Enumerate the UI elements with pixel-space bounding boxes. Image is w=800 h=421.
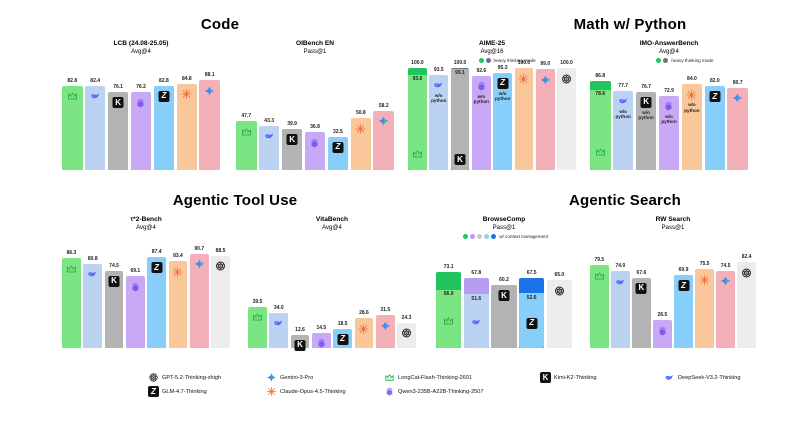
benchmark-name: IMO-AnswerBench: [590, 40, 748, 48]
bar-value-label: 18.5: [338, 321, 348, 327]
bar-gpt[interactable]: 82.4: [737, 262, 756, 348]
bar-slot: 69.1: [126, 244, 145, 348]
plot-area: 56.073.151.667.860.2K52.667.5Z65.0: [436, 244, 572, 348]
kimi-k-icon: K: [108, 275, 121, 288]
legend-item-label: GLM-4.7-Thinking: [162, 389, 207, 395]
bar-value-label: 82.0: [710, 78, 720, 84]
claude-sunburst-icon: [357, 322, 370, 335]
bar-kimi[interactable]: 74.5K: [105, 271, 124, 348]
openai-icon: [214, 260, 227, 273]
qwen-icon: [315, 337, 328, 350]
bar-value-label: 95.3: [498, 65, 508, 71]
gemini-spark-icon: [731, 92, 744, 105]
claude-sunburst-icon: [354, 122, 367, 135]
bar-slot: 36.8: [305, 68, 326, 170]
chart-group-lcb: LCB (24.08-25.05)Avg@482.882.476.1K76.28…: [62, 40, 220, 170]
bar-slot: 52.667.5Z: [519, 244, 544, 348]
bar-value-label: 84.0: [687, 76, 697, 82]
benchmark-metric: Avg@4: [62, 224, 230, 232]
bar-value-label: 65.0: [554, 272, 564, 278]
bar-annotation: w/opython: [431, 93, 446, 104]
bar-kimi[interactable]: 12.6K: [291, 335, 310, 348]
bar-deepseek[interactable]: 74.0: [611, 271, 630, 348]
bar-slot: 18.5Z: [333, 244, 352, 348]
bar-value-label: 80.7: [733, 80, 743, 86]
bar-slot: 82.8: [62, 68, 83, 170]
gemini-spark-icon: [193, 258, 206, 271]
bar-value-label: 88.5: [216, 248, 226, 254]
bar-gpt[interactable]: 100.0: [557, 68, 576, 170]
qwen-icon: [384, 386, 395, 397]
bar-value-label: 79.5: [594, 257, 604, 263]
legend-dot-grey: [663, 58, 668, 63]
bar-glm[interactable]: 82.0Z: [705, 86, 726, 170]
legend-item-label: GPT-5.2-Thinking-xhigh: [162, 375, 221, 381]
bar-glm[interactable]: 69.9Z: [674, 275, 693, 348]
kimi-k-icon: K: [454, 153, 467, 166]
bar-glm[interactable]: 87.4Z: [147, 257, 166, 348]
deepseek-whale-icon: [614, 275, 627, 288]
chart-group-tau2bench: τ*2-BenchAvg@486.380.874.5K69.187.4Z83.4…: [62, 216, 230, 348]
longcat-icon: [240, 125, 253, 138]
bar-value-label: 74.0: [615, 263, 625, 269]
chart-group-imo: IMO-AnswerBenchAvg@4heavy thinking mode7…: [590, 40, 748, 170]
kimi-k-glyph: K: [113, 97, 124, 108]
glm-z-icon: Z: [677, 279, 690, 292]
bar-deepseek[interactable]: 43.3: [259, 126, 280, 170]
bar-inner-value: 51.6: [471, 296, 481, 302]
plot-area: 86.380.874.5K69.187.4Z83.490.788.5: [62, 244, 230, 348]
benchmark-metric: Pass@1: [436, 224, 572, 232]
bar-slot: 84.8: [177, 68, 198, 170]
section-title-code: Code: [120, 16, 320, 33]
bar-value-label: 58.2: [379, 103, 389, 109]
bar-qwen[interactable]: 36.8: [305, 132, 326, 170]
bar-qwen[interactable]: 92.6w/opython: [472, 76, 491, 170]
section-title-agentic-tool-use: Agentic Tool Use: [120, 192, 350, 209]
qwen-icon: [662, 100, 675, 113]
bar-slot: 31.5: [376, 244, 395, 348]
bar-value-label: 31.5: [380, 307, 390, 313]
kimi-k-icon: K: [635, 282, 648, 295]
bar-slot: 51.667.8: [464, 244, 489, 348]
section-title-math: Math w/ Python: [520, 16, 740, 33]
bar-value-label: 86.3: [67, 250, 77, 256]
legend-label: w/ context management: [499, 234, 548, 239]
bar-slot: 47.7: [236, 68, 257, 170]
benchmark-metric: Avg@4: [62, 48, 220, 56]
kimi-k-glyph: K: [498, 290, 509, 301]
bar-kimi[interactable]: 60.2K: [491, 285, 516, 348]
bar-claude[interactable]: 75.5: [695, 269, 714, 348]
inline-legend: w/ context management: [463, 234, 548, 239]
bar-slot: 80.8: [83, 244, 102, 348]
kimi-k-glyph: K: [540, 372, 551, 383]
bar-value-label: 14.5: [316, 325, 326, 331]
bar-value-label: 100.0: [518, 60, 531, 66]
bar-value-label: 87.4: [152, 249, 162, 255]
legend-dot-green: [463, 234, 468, 239]
bar-value-label: 67.8: [471, 270, 481, 276]
bar-value-label: 43.3: [264, 118, 274, 124]
bar-value-label: 80.8: [88, 256, 98, 262]
legend-item-label: DeepSeek-V3.2-Thinking: [678, 375, 741, 381]
claude-sunburst-icon: [685, 88, 698, 101]
glm-z-icon: Z: [336, 333, 349, 346]
bar-qwen[interactable]: 69.1: [126, 276, 145, 348]
benchmark-name: VitaBench: [248, 216, 416, 224]
bar-value-label: 67.5: [527, 270, 537, 276]
bar-slot: 32.5Z: [328, 68, 349, 170]
bar-deepseek[interactable]: 34.0: [269, 313, 288, 348]
bar-slot: 24.3: [397, 244, 416, 348]
bar-slot: 39.9K: [282, 68, 303, 170]
deepseek-whale-icon: [664, 372, 675, 383]
qwen-icon: [656, 324, 669, 337]
bar-value-label: 39.9: [287, 121, 297, 127]
gemini-spark-icon: [719, 275, 732, 288]
kimi-k-glyph: K: [287, 134, 298, 145]
bar-longcat[interactable]: 82.8: [62, 86, 83, 170]
glm-z-icon: Z: [708, 90, 721, 103]
longcat-icon: [593, 269, 606, 282]
benchmark-metric: Avg@16: [408, 48, 576, 56]
glm-z-icon: Z: [525, 317, 538, 330]
plot-area: 79.574.067.6K26.569.9Z75.574.582.4: [590, 244, 756, 348]
bar-value-label: 100.0: [454, 60, 467, 66]
bar-deepseek[interactable]: 82.4: [85, 86, 106, 170]
bar-slot: 77.7w/opython: [613, 68, 634, 170]
glm-z-glyph: Z: [678, 280, 689, 291]
glm-z-glyph: Z: [709, 91, 720, 102]
benchmark-metric: Avg@4: [590, 48, 748, 56]
bar-gemini[interactable]: 99.0: [536, 69, 555, 170]
bar-value-label: 69.1: [130, 268, 140, 274]
gemini-spark-icon: [379, 319, 392, 332]
bar-value-label: 90.7: [194, 246, 204, 252]
legend-dot-grey: [477, 234, 482, 239]
deepseek-whale-icon: [272, 317, 285, 330]
bar-slot: 28.6: [355, 244, 374, 348]
bar-longcat[interactable]: 47.7: [236, 121, 257, 170]
plot-area: 78.686.877.7w/opython76.7Kw/opython72.9w…: [590, 68, 748, 170]
qwen-icon: [475, 80, 488, 93]
bar-slot: 90.7: [190, 244, 209, 348]
bar-glm[interactable]: 82.8Z: [154, 86, 175, 170]
gemini-spark-icon: [266, 372, 277, 383]
gemini-spark-icon: [377, 115, 390, 128]
legend-item-qwen[interactable]: Qwen3-235B-A22B-Thinking-2507: [384, 386, 484, 397]
claude-sunburst-icon: [180, 88, 193, 101]
claude-sunburst-icon: [171, 265, 184, 278]
kimi-k-glyph: K: [636, 283, 647, 294]
bar-gemini[interactable]: 88.1: [199, 80, 220, 170]
bar-longcat[interactable]: 86.3: [62, 258, 81, 348]
bar-claude[interactable]: 84.0w/opython: [682, 84, 703, 170]
bar-annotation: w/opython: [616, 109, 631, 120]
bar-annotation: w/opython: [684, 102, 699, 113]
bar-longcat[interactable]: 56.073.1: [436, 272, 461, 348]
bar-gpt[interactable]: 88.5: [211, 256, 230, 348]
bar-glm[interactable]: 95.3Zw/opython: [493, 73, 512, 170]
bar-slot: 88.1: [199, 68, 220, 170]
bar-slot: 82.0Z: [705, 68, 726, 170]
bar-deepseek[interactable]: 80.8: [83, 264, 102, 348]
bar-deepseek[interactable]: 77.7w/opython: [613, 91, 634, 170]
glm-z-icon: Z: [496, 77, 509, 90]
bar-value-label: 84.8: [182, 76, 192, 82]
bar-slot: 92.6w/opython: [472, 68, 491, 170]
bar-slot: 12.6K: [291, 244, 310, 348]
bar-value-label: 26.5: [658, 312, 668, 318]
qwen-icon: [308, 136, 321, 149]
claude-sunburst-icon: [698, 273, 711, 286]
bar-slot: 100.0: [515, 68, 534, 170]
benchmark-metric: Avg@4: [248, 224, 416, 232]
bar-value-label: 99.0: [540, 61, 550, 67]
bar-claude[interactable]: 28.6: [355, 318, 374, 348]
bar-value-label: 82.8: [67, 78, 77, 84]
bar-slot: 34.0: [269, 244, 288, 348]
bar-claude[interactable]: 84.8: [177, 84, 198, 170]
bar-slot: 84.0w/opython: [682, 68, 703, 170]
longcat-icon: [251, 311, 264, 324]
bar-gemini[interactable]: 90.7: [190, 254, 209, 348]
bar-value-label: 75.5: [700, 261, 710, 267]
glm-z-glyph: Z: [526, 318, 537, 329]
kimi-k-icon: K: [497, 289, 510, 302]
bar-slot: 87.4Z: [147, 244, 166, 348]
bar-slot: 82.8Z: [154, 68, 175, 170]
bar-value-label: 77.7: [618, 83, 628, 89]
legend-item-glm[interactable]: ZGLM-4.7-Thinking: [148, 386, 207, 397]
legend-dot-green: [479, 58, 484, 63]
benchmark-name: RW Search: [590, 216, 756, 224]
kimi-k-icon: K: [112, 96, 125, 109]
deepseek-whale-icon: [89, 90, 102, 103]
chart-group-oibench: OIBench ENPass@147.743.339.9K36.832.5Z50…: [236, 40, 394, 170]
bar-value-label: 12.6: [295, 327, 305, 333]
legend-dot-violet: [470, 234, 475, 239]
bar-slot: 93.6100.0: [408, 68, 427, 170]
bar-value-label: 60.2: [499, 277, 509, 283]
bar-gemini[interactable]: 31.5: [376, 315, 395, 348]
bar-annotation: w/opython: [474, 94, 489, 105]
bar-slot: 39.5: [248, 244, 267, 348]
chart-group-browsecomp: BrowseCompPass@1w/ context management56.…: [436, 216, 572, 348]
bar-kimi[interactable]: 76.1K: [108, 92, 129, 170]
bar-qwen[interactable]: 76.2: [131, 92, 152, 170]
legend-item-kimi[interactable]: KKimi-K2-Thinking: [540, 372, 597, 383]
legend-item-deepseek[interactable]: DeepSeek-V3.2-Thinking: [664, 372, 741, 383]
glm-z-icon: Z: [148, 386, 159, 397]
longcat-icon: [66, 90, 79, 103]
bar-deepseek[interactable]: 51.667.8: [464, 278, 489, 349]
bar-gemini[interactable]: 74.5: [716, 271, 735, 348]
bar-slot: 56.073.1: [436, 244, 461, 348]
bar-value-label: 88.1: [205, 72, 215, 78]
bar-inner-value: 52.6: [527, 295, 537, 301]
deepseek-whale-icon: [86, 268, 99, 281]
bar-inner-value: 56.0: [444, 291, 454, 297]
legend-item-label: Gemini-3-Pro: [280, 375, 313, 381]
legend-dot-lightblue: [484, 234, 489, 239]
bar-deepseek[interactable]: 93.5w/opython: [429, 75, 448, 170]
longcat-icon: [411, 147, 424, 160]
bar-longcat[interactable]: 79.5: [590, 265, 609, 348]
bar-value-label: 36.8: [310, 124, 320, 130]
bar-gpt[interactable]: 24.3: [397, 323, 416, 348]
bar-qwen[interactable]: 72.9w/opython: [659, 96, 680, 170]
bar-value-label: 47.7: [241, 113, 251, 119]
bar-slot: 74.0: [611, 244, 630, 348]
bar-slot: 43.3: [259, 68, 280, 170]
deepseek-whale-icon: [432, 79, 445, 92]
benchmark-name: BrowseComp: [436, 216, 572, 224]
bar-value-label: 73.1: [444, 264, 454, 270]
benchmark-name: OIBench EN: [236, 40, 394, 48]
legend-dot-green: [656, 58, 661, 63]
claude-sunburst-icon: [266, 386, 277, 397]
bar-slot: 74.5: [716, 244, 735, 348]
benchmark-name: AIME-25: [408, 40, 576, 48]
kimi-k-glyph: K: [641, 97, 652, 108]
bar-slot: 80.7: [727, 68, 748, 170]
bar-qwen[interactable]: 26.5: [653, 320, 672, 348]
legend-item-label: Qwen3-235B-A22B-Thinking-2507: [398, 389, 484, 395]
bar-claude[interactable]: 83.4: [169, 261, 188, 348]
bar-glm[interactable]: 52.667.5Z: [519, 278, 544, 348]
bar-value-label: 28.6: [359, 310, 369, 316]
qwen-icon: [129, 280, 142, 293]
glm-z-icon: Z: [331, 141, 344, 154]
bar-slot: 82.4: [85, 68, 106, 170]
legend-item-longcat[interactable]: LongCat-Flash-Thinking-2601: [384, 372, 472, 383]
deepseek-whale-icon: [470, 315, 483, 328]
bar-claude[interactable]: 100.0: [515, 68, 534, 170]
bar-longcat[interactable]: 93.6100.0: [408, 68, 427, 170]
bar-kimi[interactable]: 39.9K: [282, 129, 303, 170]
bar-slot: 60.2K: [491, 244, 516, 348]
kimi-k-glyph: K: [455, 154, 466, 165]
bar-value-label: 76.2: [136, 84, 146, 90]
bar-slot: 50.8: [351, 68, 372, 170]
longcat-icon: [65, 262, 78, 275]
bar-slot: 100.0: [557, 68, 576, 170]
openai-icon: [400, 327, 413, 340]
bar-value-label: 24.3: [402, 315, 412, 321]
bar-glm[interactable]: 32.5Z: [328, 137, 349, 170]
bar-gpt[interactable]: 65.0: [547, 280, 572, 348]
bar-slot: 88.5: [211, 244, 230, 348]
benchmark-name: τ*2-Bench: [62, 216, 230, 224]
openai-icon: [148, 372, 159, 383]
bar-slot: 14.5: [312, 244, 331, 348]
legend-item-gemini[interactable]: Gemini-3-Pro: [266, 372, 313, 383]
plot-area: 39.534.012.6K14.518.5Z28.631.524.3: [248, 244, 416, 348]
legend-dot-grey: [486, 58, 491, 63]
chart-group-rwsearch: RW SearchPass@179.574.067.6K26.569.9Z75.…: [590, 216, 756, 348]
openai-icon: [553, 284, 566, 297]
legend-item-label: Claude-Opus-4.5-Thinking: [280, 389, 346, 395]
bar-value-label: 50.8: [356, 110, 366, 116]
plot-area: 82.882.476.1K76.282.8Z84.888.1: [62, 68, 220, 170]
legend-item-gpt[interactable]: GPT-5.2-Thinking-xhigh: [148, 372, 221, 383]
kimi-k-glyph: K: [109, 276, 120, 287]
bar-slot: 83.4: [169, 244, 188, 348]
longcat-icon: [594, 146, 607, 159]
bar-longcat[interactable]: 39.5: [248, 307, 267, 348]
inline-legend: heavy thinking mode: [656, 58, 713, 63]
bar-gemini[interactable]: 80.7: [727, 88, 748, 170]
bar-slot: 76.2: [131, 68, 152, 170]
gemini-spark-icon: [203, 84, 216, 97]
bar-slot: 65.0: [547, 244, 572, 348]
bar-slot: 82.4: [737, 244, 756, 348]
bar-value-label: 34.0: [274, 305, 284, 311]
plot-area: 93.6100.093.5w/opython99.1100.0K92.6w/op…: [408, 68, 576, 170]
kimi-k-icon: K: [540, 372, 551, 383]
benchmark-name: LCB (24.08-25.05): [62, 40, 220, 48]
bar-value-label: 100.0: [560, 60, 573, 66]
section-title-agentic-search: Agentic Search: [510, 192, 740, 209]
bar-kimi[interactable]: 99.1100.0K: [451, 68, 470, 170]
glm-z-glyph: Z: [151, 262, 162, 273]
bar-longcat[interactable]: 78.686.8: [590, 81, 611, 170]
bar-slot: 58.2: [373, 68, 394, 170]
bar-slot: 99.1100.0K: [451, 68, 470, 170]
deepseek-whale-icon: [263, 130, 276, 143]
bar-glm[interactable]: 18.5Z: [333, 329, 352, 348]
bar-slot: 93.5w/opython: [429, 68, 448, 170]
benchmark-figure: Code Math w/ Python Agentic Tool Use Age…: [0, 0, 800, 421]
bar-slot: 74.5K: [105, 244, 124, 348]
bar-annotation: w/opython: [661, 114, 676, 125]
legend-label: heavy thinking mode: [671, 58, 713, 63]
bar-value-label: 93.5: [434, 67, 444, 73]
bar-slot: 75.5: [695, 244, 714, 348]
openai-icon: [560, 72, 573, 85]
legend-item-label: LongCat-Flash-Thinking-2601: [398, 375, 472, 381]
legend-item-claude[interactable]: Claude-Opus-4.5-Thinking: [266, 386, 346, 397]
bar-value-label: 82.4: [742, 254, 752, 260]
bar-claude[interactable]: 50.8: [351, 118, 372, 170]
bar-value-label: 82.4: [90, 78, 100, 84]
chart-group-vitabench: VitaBenchAvg@439.534.012.6K14.518.5Z28.6…: [248, 216, 416, 348]
bar-slot: 67.6K: [632, 244, 651, 348]
kimi-k-glyph: K: [295, 340, 306, 351]
bar-value-label: 100.0: [411, 60, 424, 66]
bar-slot: 78.686.8: [590, 68, 611, 170]
bar-slot: 79.5: [590, 244, 609, 348]
longcat-icon: [384, 372, 395, 383]
bar-value-label: 74.5: [721, 263, 731, 269]
legend-item-label: Kimi-K2-Thinking: [554, 375, 597, 381]
chart-group-aime25: AIME-25Avg@16heavy thinking mode93.6100.…: [408, 40, 576, 170]
bar-qwen[interactable]: 14.5: [312, 333, 331, 348]
kimi-k-icon: K: [640, 96, 653, 109]
bar-slot: 72.9w/opython: [659, 68, 680, 170]
bar-value-label: 82.8: [159, 78, 169, 84]
kimi-k-icon: K: [286, 133, 299, 146]
bar-kimi[interactable]: 76.7Kw/opython: [636, 92, 657, 170]
bar-value-label: 74.5: [109, 263, 119, 269]
bar-gemini[interactable]: 58.2: [373, 111, 394, 170]
bar-slot: 26.5: [653, 244, 672, 348]
benchmark-metric: Pass@1: [236, 48, 394, 56]
bar-kimi[interactable]: 67.6K: [632, 278, 651, 348]
bar-annotation: w/opython: [495, 91, 510, 102]
